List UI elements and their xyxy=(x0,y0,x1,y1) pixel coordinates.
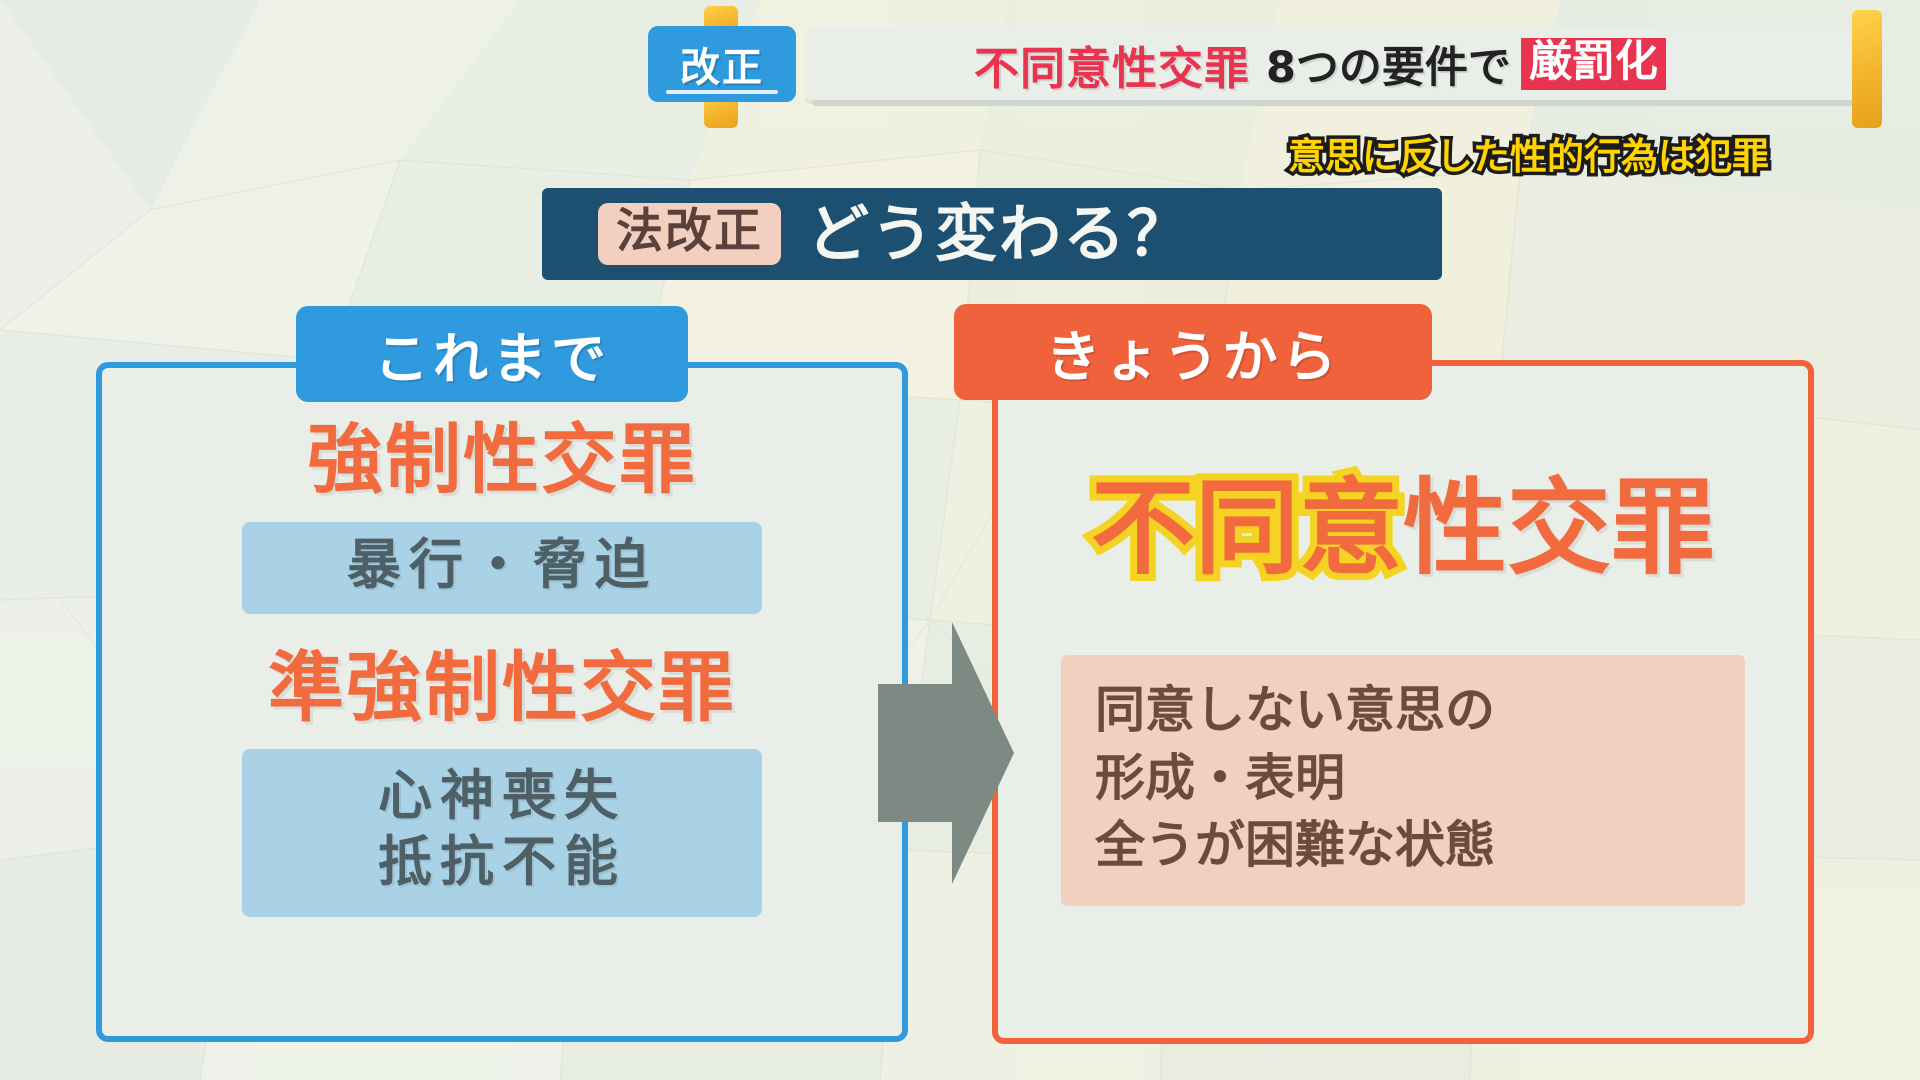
panel-after-tab-label: きょうから xyxy=(1045,312,1340,392)
after-detail-line1: 同意しない意思の xyxy=(1095,677,1745,745)
panel-after: きょうから 不同意性交罪 同意しない意思の 形成・表明 全うが困難な状態 xyxy=(992,360,1814,1044)
header-banner: 改正 不同意性交罪 8つの要件で 厳罰化 xyxy=(806,28,1866,100)
after-detail-box: 同意しない意思の 形成・表明 全うが困難な状態 xyxy=(1061,655,1745,906)
panel-before-tab-label: これまで xyxy=(374,314,610,394)
panel-after-tab: きょうから xyxy=(954,304,1432,400)
panel-after-content: 不同意性交罪 同意しない意思の 形成・表明 全うが困難な状態 xyxy=(998,366,1808,1038)
header-emphasis-text: 厳罰化 xyxy=(1521,38,1666,90)
before-detail-2: 心神喪失 抵抗不能 xyxy=(242,749,762,917)
transition-arrow-icon xyxy=(878,622,1014,884)
header-highlight-term: 不同意性交罪 xyxy=(974,32,1250,97)
header-subtitle: 意思に反した性的行為は犯罪 xyxy=(1288,126,1769,180)
before-detail-1: 暴行・脅迫 xyxy=(242,522,762,614)
panel-before: これまで 強制性交罪 暴行・脅迫 準強制性交罪 心神喪失 抵抗不能 xyxy=(96,362,908,1042)
after-headline-outlined: 不同意 xyxy=(1091,467,1403,589)
before-heading-1: 強制性交罪 xyxy=(307,420,697,500)
header-revision-tag: 改正 xyxy=(648,26,796,102)
clasp-right-decoration xyxy=(1852,10,1882,128)
after-headline: 不同意性交罪 xyxy=(1091,474,1715,583)
main-title-bar: 法改正 どう変わる？ xyxy=(542,188,1442,280)
main-title-badge: 法改正 xyxy=(598,203,781,264)
after-detail-line2: 形成・表明 xyxy=(1095,745,1745,813)
header-revision-tag-label: 改正 xyxy=(680,35,764,93)
after-detail-line3: 全うが困難な状態 xyxy=(1095,812,1745,880)
header-text-line: 不同意性交罪 8つの要件で 厳罰化 xyxy=(806,28,1666,100)
before-detail-2-line2: 抵抗不能 xyxy=(242,829,762,895)
before-detail-2-line1: 心神喪失 xyxy=(242,763,762,829)
after-headline-plain: 性交罪 xyxy=(1403,467,1715,589)
header-middle-text: 8つの要件で xyxy=(1266,33,1511,95)
panel-before-content: 強制性交罪 暴行・脅迫 準強制性交罪 心神喪失 抵抗不能 xyxy=(102,368,902,1036)
panel-before-tab: これまで xyxy=(296,306,688,402)
main-title-text: どう変わる？ xyxy=(807,201,1191,266)
before-heading-2: 準強制性交罪 xyxy=(268,648,736,728)
